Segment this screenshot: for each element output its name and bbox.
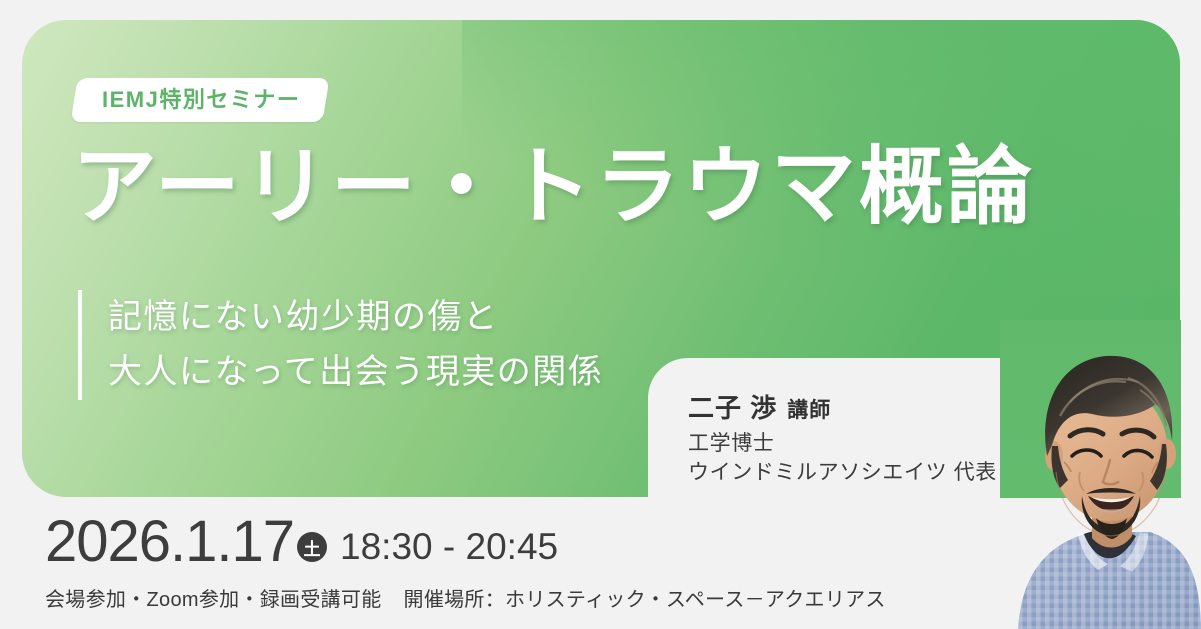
event-date: 2026.1.17 [45,513,294,571]
speaker-portrait-image [1000,320,1201,629]
seminar-badge-pill: IEMJ特別セミナー [71,78,330,122]
speaker-role: 講師 [787,399,831,422]
speaker-meta: 工学博士 ウインドミルアソシエイツ 代表 [688,430,997,488]
speaker-affiliation: ウインドミルアソシエイツ 代表 [688,459,997,488]
seminar-banner: IEMJ特別セミナー アーリー・トラウマ概論 記憶にない幼少期の傷と 大人になっ… [0,0,1201,629]
page-title: アーリー・トラウマ概論 [72,143,1035,232]
speaker-credential: 工学博士 [688,430,997,459]
speaker-name-row: 二子 渉講師 [688,388,831,425]
schedule-line: 2026.1.17 土 18:30 - 20:45 [45,513,558,571]
footer-info: 会場参加・Zoom参加・録画受講可能開催場所：ホリスティック・スペース－アクエリ… [45,583,886,612]
speaker-name: 二子 渉 [688,393,777,423]
subtitle-line-2: 大人になって出会う現実の関係 [108,345,603,400]
participation-options: 会場参加・Zoom参加・録画受講可能 [45,589,382,611]
day-of-week-badge: 土 [297,532,327,562]
subtitle-block: 記憶にない幼少期の傷と 大人になって出会う現実の関係 [78,290,603,400]
seminar-badge-label: IEMJ特別セミナー [102,78,300,122]
speaker-photo [1000,320,1201,629]
event-time: 18:30 - 20:45 [340,528,558,565]
venue-info: 開催場所：ホリスティック・スペース－アクエリアス [404,589,886,611]
subtitle-line-1: 記憶にない幼少期の傷と [108,290,603,345]
seminar-badge: IEMJ特別セミナー [74,78,326,122]
